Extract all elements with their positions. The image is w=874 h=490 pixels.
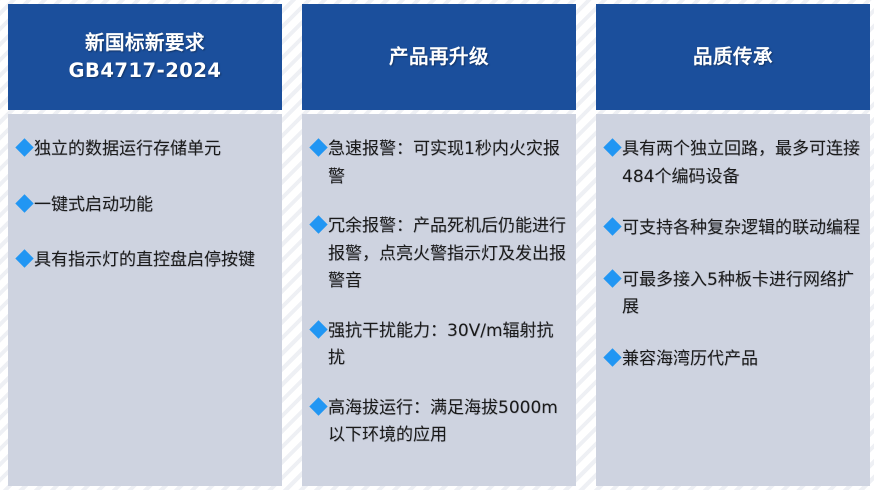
column-1-title-line-1: 新国标新要求	[85, 29, 205, 57]
diamond-bullet-icon	[309, 397, 327, 415]
column-2-title-line-1: 产品再升级	[389, 43, 489, 71]
list-item-label: 强抗干扰能力：30V/m辐射抗扰	[328, 318, 566, 373]
list-item: 具有两个独立回路，最多可连接484个编码设备	[606, 136, 860, 191]
list-item-label: 一键式启动功能	[34, 192, 153, 220]
column-2-header: 产品再升级	[302, 4, 576, 110]
column-1-header: 新国标新要求 GB4717-2024	[8, 4, 282, 110]
list-item: 强抗干扰能力：30V/m辐射抗扰	[312, 318, 566, 373]
list-item-label: 兼容海湾历代产品	[622, 346, 758, 374]
list-item: 独立的数据运行存储单元	[18, 136, 272, 164]
slide-canvas: 新国标新要求 GB4717-2024 独立的数据运行存储单元 一键式启动功能 具…	[0, 0, 874, 490]
list-item: 可最多接入5种板卡进行网络扩展	[606, 267, 860, 322]
list-item: 兼容海湾历代产品	[606, 346, 860, 374]
diamond-bullet-icon	[15, 249, 33, 267]
list-item-label: 独立的数据运行存储单元	[34, 136, 221, 164]
list-item-label: 可支持各种复杂逻辑的联动编程	[622, 215, 860, 243]
list-item: 急速报警：可实现1秒内火灾报警	[312, 136, 566, 191]
column-3-body: 具有两个独立回路，最多可连接484个编码设备 可支持各种复杂逻辑的联动编程 可最…	[596, 114, 870, 486]
diamond-bullet-icon	[603, 217, 621, 235]
list-item: 具有指示灯的直控盘启停按键	[18, 247, 272, 275]
diamond-bullet-icon	[309, 215, 327, 233]
list-item: 冗余报警：产品死机后仍能进行报警，点亮火警指示灯及发出报警音	[312, 213, 566, 296]
list-item-label: 高海拔运行：满足海拔5000m以下环境的应用	[328, 395, 566, 450]
list-item: 可支持各种复杂逻辑的联动编程	[606, 215, 860, 243]
feature-column-2: 产品再升级 急速报警：可实现1秒内火灾报警 冗余报警：产品死机后仍能进行报警，点…	[302, 4, 576, 486]
diamond-bullet-icon	[309, 320, 327, 338]
list-item-label: 具有指示灯的直控盘启停按键	[34, 247, 255, 275]
column-2-body: 急速报警：可实现1秒内火灾报警 冗余报警：产品死机后仍能进行报警，点亮火警指示灯…	[302, 114, 576, 486]
list-item-label: 急速报警：可实现1秒内火灾报警	[328, 136, 566, 191]
list-item-label: 具有两个独立回路，最多可连接484个编码设备	[622, 136, 860, 191]
diamond-bullet-icon	[15, 138, 33, 156]
diamond-bullet-icon	[603, 269, 621, 287]
diamond-bullet-icon	[309, 138, 327, 156]
list-item: 高海拔运行：满足海拔5000m以下环境的应用	[312, 395, 566, 450]
diamond-bullet-icon	[603, 138, 621, 156]
feature-column-1: 新国标新要求 GB4717-2024 独立的数据运行存储单元 一键式启动功能 具…	[8, 4, 282, 486]
feature-column-3: 品质传承 具有两个独立回路，最多可连接484个编码设备 可支持各种复杂逻辑的联动…	[596, 4, 870, 486]
column-1-title-line-2: GB4717-2024	[68, 57, 221, 85]
list-item: 一键式启动功能	[18, 192, 272, 220]
column-1-body: 独立的数据运行存储单元 一键式启动功能 具有指示灯的直控盘启停按键	[8, 114, 282, 486]
list-item-label: 可最多接入5种板卡进行网络扩展	[622, 267, 860, 322]
list-item-label: 冗余报警：产品死机后仍能进行报警，点亮火警指示灯及发出报警音	[328, 213, 566, 296]
diamond-bullet-icon	[603, 348, 621, 366]
diamond-bullet-icon	[15, 194, 33, 212]
column-3-header: 品质传承	[596, 4, 870, 110]
column-3-title-line-1: 品质传承	[693, 43, 773, 71]
three-column-layout: 新国标新要求 GB4717-2024 独立的数据运行存储单元 一键式启动功能 具…	[8, 4, 874, 486]
